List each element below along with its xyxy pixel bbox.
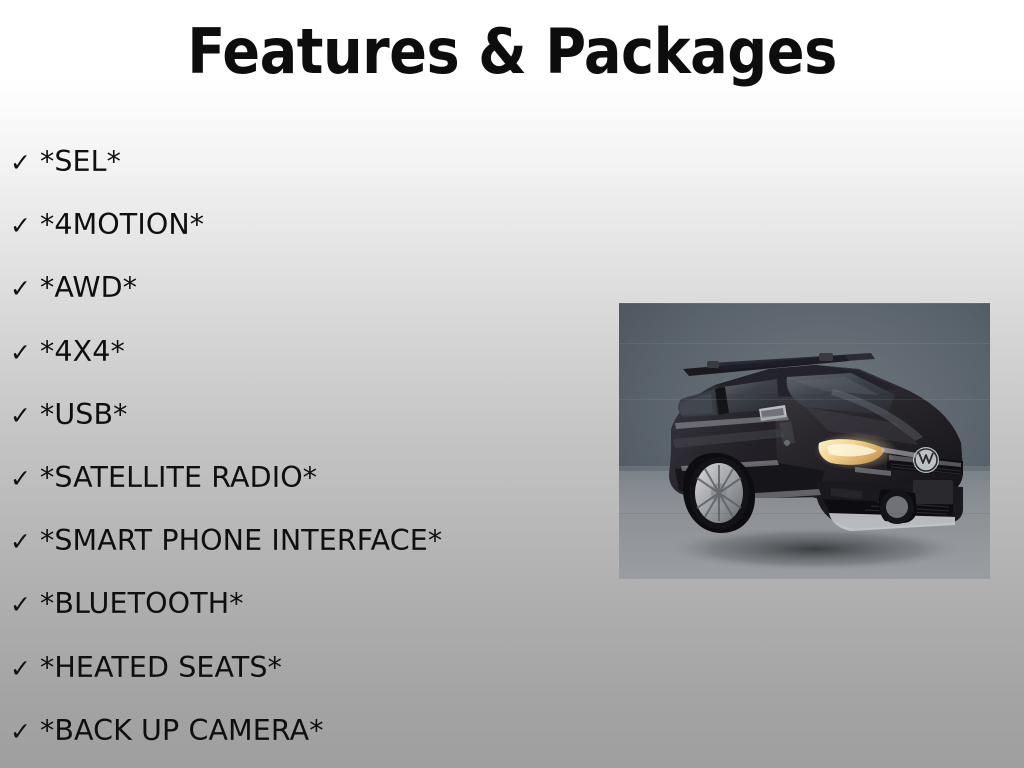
check-icon: ✓ bbox=[10, 637, 40, 700]
list-item: ✓ *BLUETOOTH* bbox=[10, 572, 610, 635]
list-item: ✓ *4X4* bbox=[10, 320, 610, 383]
check-icon: ✓ bbox=[10, 700, 40, 763]
feature-label: *HEATED SEATS* bbox=[40, 636, 610, 699]
feature-label: *AWD* bbox=[40, 256, 610, 319]
vw-logo-icon bbox=[913, 447, 939, 473]
feature-label: *BLUETOOTH* bbox=[40, 572, 610, 635]
slide-canvas: Features & Packages ✓ *SEL* ✓ *4MOTION* … bbox=[0, 0, 1024, 768]
check-icon: ✓ bbox=[10, 510, 40, 573]
feature-label: *SEL* bbox=[40, 130, 610, 193]
feature-label: *SMART PHONE INTERFACE* bbox=[40, 509, 610, 572]
list-item: ✓ *AWD* bbox=[10, 256, 610, 319]
feature-label: *SATELLITE RADIO* bbox=[40, 446, 610, 509]
list-item: ✓ *SMART PHONE INTERFACE* bbox=[10, 509, 610, 572]
check-icon: ✓ bbox=[10, 321, 40, 384]
list-item: ✓ *SEL* bbox=[10, 130, 610, 193]
feature-label: *4MOTION* bbox=[40, 193, 610, 256]
rear-wheel bbox=[879, 489, 917, 524]
license-plate-mount bbox=[913, 480, 953, 504]
feature-label: *USB* bbox=[40, 383, 610, 446]
check-icon: ✓ bbox=[10, 447, 40, 510]
page-title: Features & Packages bbox=[0, 17, 1024, 86]
check-icon: ✓ bbox=[10, 384, 40, 447]
vehicle-photo-artwork bbox=[619, 303, 990, 579]
list-item: ✓ *SATELLITE RADIO* bbox=[10, 446, 610, 509]
check-icon: ✓ bbox=[10, 131, 40, 194]
feature-label: *4X4* bbox=[40, 320, 610, 383]
list-item: ✓ *BACK UP CAMERA* bbox=[10, 699, 610, 762]
check-icon: ✓ bbox=[10, 573, 40, 636]
check-icon: ✓ bbox=[10, 194, 40, 257]
list-item: ✓ *4MOTION* bbox=[10, 193, 610, 256]
check-icon: ✓ bbox=[10, 257, 40, 320]
list-item: ✓ *HEATED SEATS* bbox=[10, 636, 610, 699]
ground-shadow bbox=[665, 527, 965, 571]
vehicle-photo bbox=[619, 303, 990, 579]
feature-label: *BACK UP CAMERA* bbox=[40, 699, 610, 762]
list-item: ✓ *USB* bbox=[10, 383, 610, 446]
feature-list: ✓ *SEL* ✓ *4MOTION* ✓ *AWD* ✓ *4X4* ✓ *U… bbox=[10, 130, 610, 762]
